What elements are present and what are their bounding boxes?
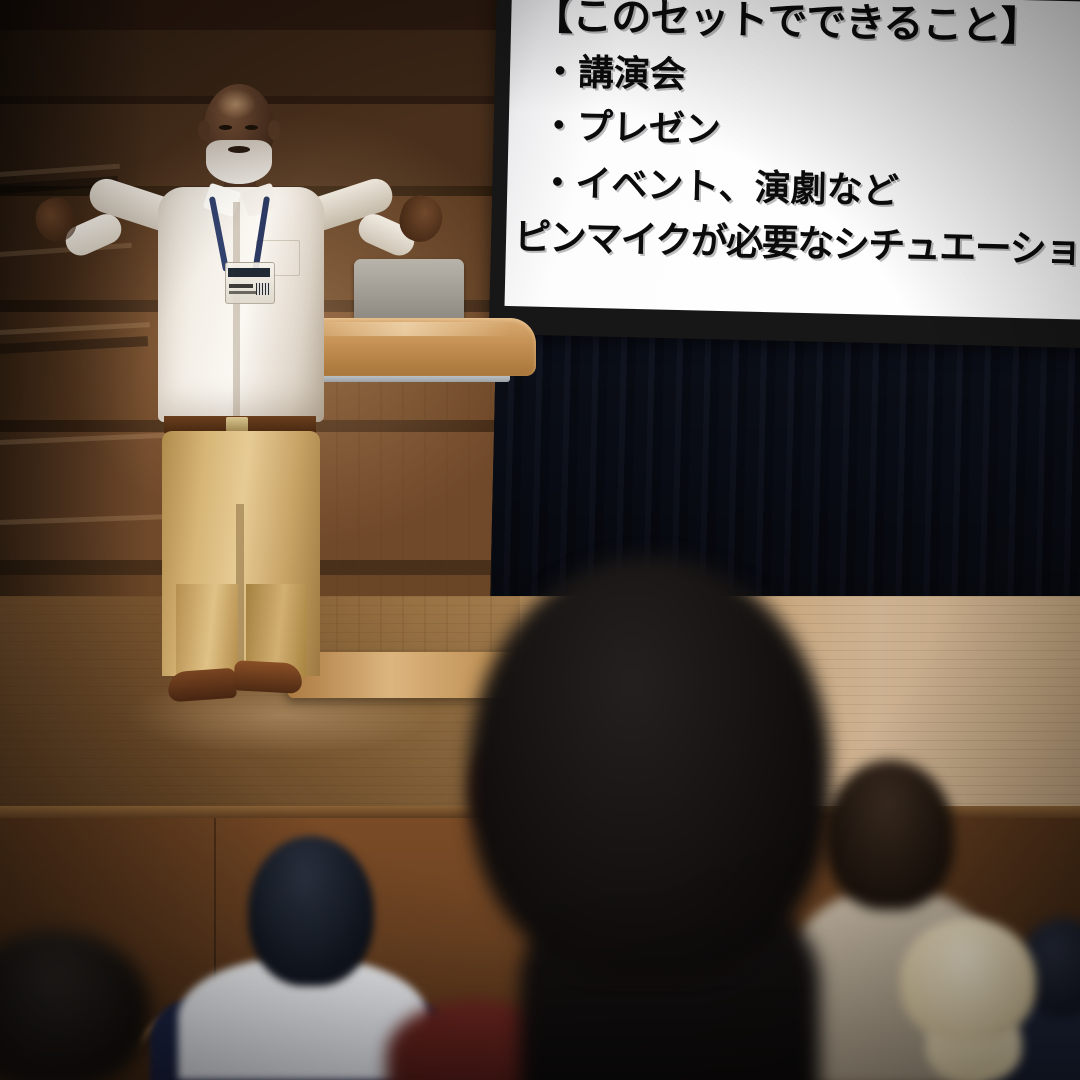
projection-screen: 【このセットでできること】 ・講演会 ・プレゼン ・イベント、演劇など ピンマイ…	[505, 0, 1080, 320]
presenter-shoe-left	[167, 668, 237, 703]
presenter-head-highlight	[216, 89, 256, 119]
presenter-eye-right	[245, 125, 258, 130]
presenter-eye-left	[219, 125, 232, 130]
presenter-figure	[30, 84, 450, 708]
presenter-mouth	[228, 146, 250, 153]
badge-header-bar	[228, 268, 270, 277]
stage-curtain	[490, 300, 1080, 614]
slide-bullet-2: ・プレゼン	[530, 105, 1080, 158]
presentation-slide: 【このセットでできること】 ・講演会 ・プレゼン ・イベント、演劇など ピンマイ…	[505, 0, 1080, 320]
badge-text-line	[229, 284, 253, 288]
presenter-shirt	[158, 187, 324, 422]
presenter-ear-left	[198, 120, 210, 140]
slide-bullet-3: ・イベント、演劇など	[529, 163, 1080, 216]
slide-title: 【このセットでできること】	[533, 0, 1080, 51]
presenter-leg-left	[176, 584, 238, 680]
slide-footer-text: ピンマイクが必要なシチュエーション	[514, 218, 1080, 270]
slide-bullet-1: ・講演会	[532, 52, 1080, 105]
presenter-shoe-right	[233, 660, 302, 694]
presenter-ear-right	[268, 120, 280, 140]
curtain-shading	[490, 300, 1080, 614]
badge-barcode	[256, 283, 270, 295]
presenter-belt-buckle	[226, 417, 248, 432]
presenter-shirt-placket	[233, 202, 240, 417]
auditorium-scene: 【このセットでできること】 ・講演会 ・プレゼン ・イベント、演劇など ピンマイ…	[0, 0, 1080, 1080]
panel-vignette	[0, 818, 1080, 1080]
